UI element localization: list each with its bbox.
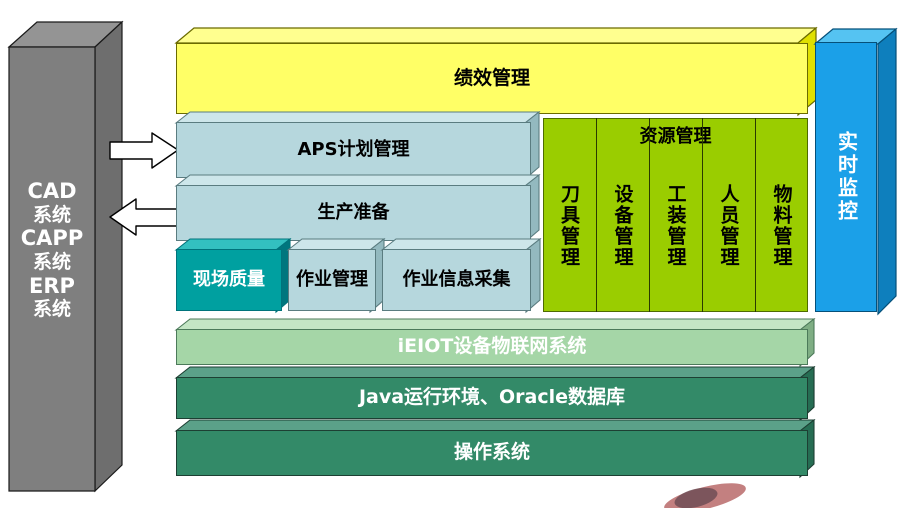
resource-column-material[interactable]: 物料管理 bbox=[755, 118, 808, 312]
job-info-collection-box[interactable]: 作业信息采集 bbox=[382, 249, 531, 311]
operating-system-label: 操作系统 bbox=[454, 443, 530, 463]
external-system-cad-suffix: 系统 bbox=[33, 204, 71, 226]
operating-system-bar[interactable]: 操作系统 bbox=[176, 430, 808, 476]
resource-column-tooling-label: 刀具管理 bbox=[556, 184, 583, 268]
resource-column-material-label: 物料管理 bbox=[769, 184, 796, 268]
realtime-monitor-tower[interactable]: 实时监控 bbox=[815, 42, 877, 312]
external-system-capp-suffix: 系统 bbox=[33, 251, 71, 273]
job-management-box[interactable]: 作业管理 bbox=[288, 249, 376, 311]
ieiot-iot-platform-label: iEIOT设备物联网系统 bbox=[398, 337, 587, 357]
external-system-erp-suffix: 系统 bbox=[33, 298, 71, 320]
production-preparation-label: 生产准备 bbox=[318, 204, 390, 223]
resource-column-tooling[interactable]: 刀具管理 bbox=[543, 118, 596, 312]
runtime-database-label: Java运行环境、Oracle数据库 bbox=[359, 388, 625, 408]
resource-column-fixture-label: 工装管理 bbox=[663, 184, 690, 268]
performance-management-bar[interactable]: 绩效管理 bbox=[176, 43, 808, 114]
resource-column-personnel-label: 人员管理 bbox=[716, 184, 743, 268]
onsite-quality-label: 现场质量 bbox=[193, 271, 265, 290]
job-management-label: 作业管理 bbox=[296, 271, 368, 290]
aps-planning-label: APS计划管理 bbox=[297, 141, 409, 160]
external-system-capp: CAPP bbox=[21, 226, 83, 251]
architecture-diagram-canvas: CAD 系统 CAPP 系统 ERP 系统 绩效管理 APS计划管理 生产准备 bbox=[0, 0, 905, 497]
resource-column-fixture[interactable]: 工装管理 bbox=[649, 118, 702, 312]
resource-column-personnel[interactable]: 人员管理 bbox=[702, 118, 755, 312]
runtime-database-bar[interactable]: Java运行环境、Oracle数据库 bbox=[176, 377, 808, 419]
resource-column-equipment[interactable]: 设备管理 bbox=[596, 118, 649, 312]
production-preparation-box[interactable]: 生产准备 bbox=[176, 185, 531, 241]
external-system-cad: CAD bbox=[27, 179, 76, 204]
realtime-monitor-label: 实时监控 bbox=[836, 131, 857, 223]
decorative-accent-shape bbox=[660, 478, 780, 508]
ieiot-iot-platform-bar[interactable]: iEIOT设备物联网系统 bbox=[176, 329, 808, 365]
onsite-quality-box[interactable]: 现场质量 bbox=[176, 249, 282, 311]
external-system-erp: ERP bbox=[29, 274, 75, 299]
aps-planning-box[interactable]: APS计划管理 bbox=[176, 122, 531, 178]
resource-management-block[interactable]: 资源管理 刀具管理 设备管理 工装管理 人员管理 物料管理 bbox=[543, 118, 808, 312]
job-info-collection-label: 作业信息采集 bbox=[403, 271, 511, 290]
external-systems-tower-label-group: CAD 系统 CAPP 系统 ERP 系统 bbox=[9, 150, 95, 350]
resource-column-equipment-label: 设备管理 bbox=[610, 184, 637, 268]
performance-management-label: 绩效管理 bbox=[454, 69, 530, 89]
